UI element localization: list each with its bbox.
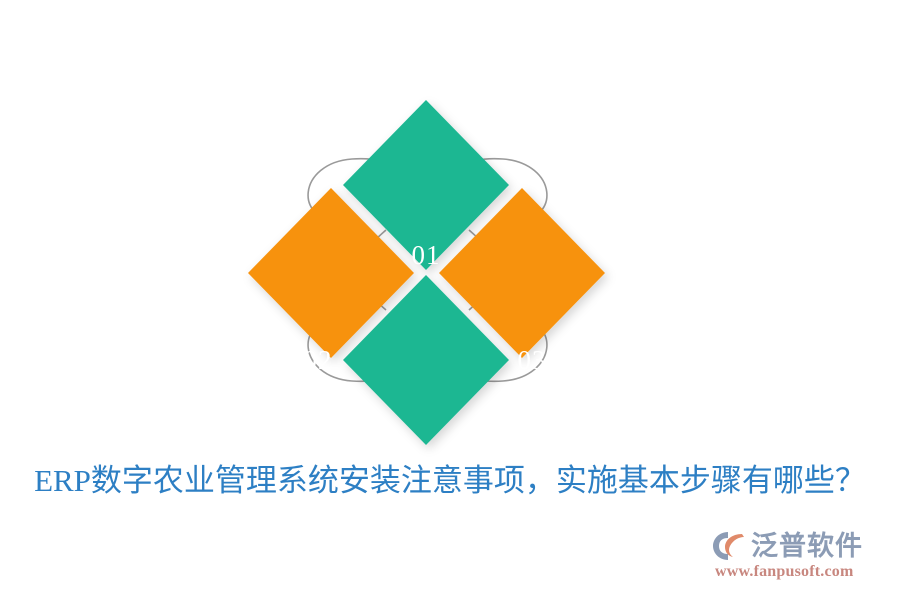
four-step-diamond-diagram: 01 02 03 04 — [240, 85, 615, 455]
fanpu-logo-icon — [712, 530, 746, 562]
diagram-svg — [240, 85, 615, 455]
watermark-url: www.fanpusoft.com — [715, 564, 885, 580]
watermark-logo: 泛普软件 www.fanpusoft.com — [712, 526, 882, 588]
watermark-brand-name: 泛普软件 — [751, 533, 863, 560]
page-title: ERP数字农业管理系统安装注意事项，实施基本步骤有哪些？ — [0, 455, 900, 500]
screenshot-canvas: 01 02 03 04 ERP数字农业管理系统安装注意事项，实施基本步骤有哪些？… — [0, 0, 900, 600]
